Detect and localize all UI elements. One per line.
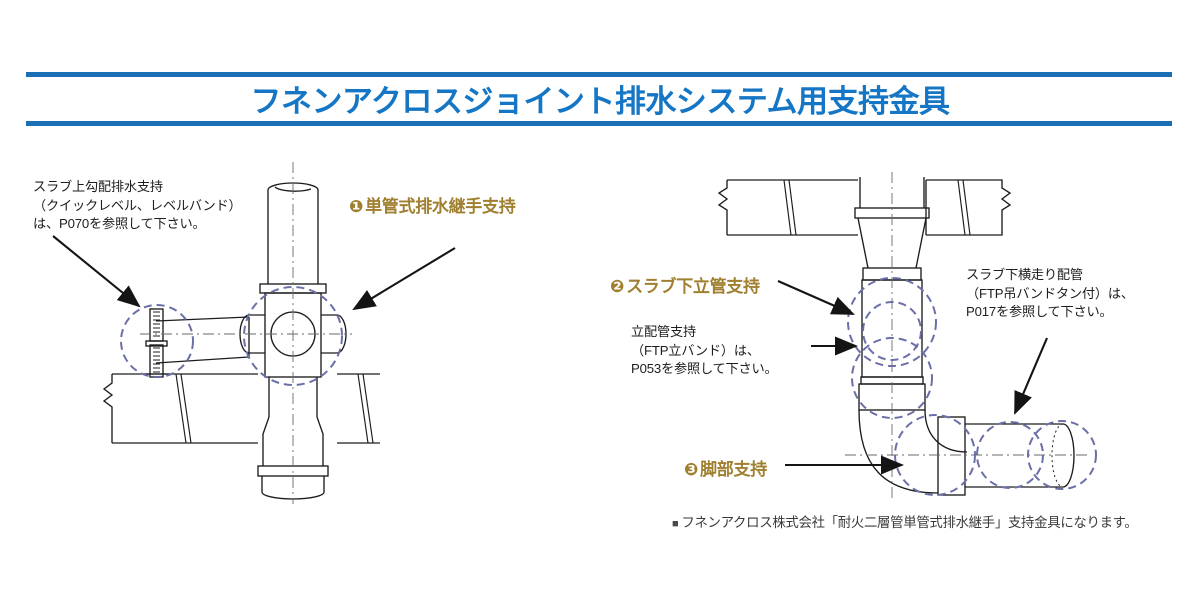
callout-3-base-support: ❸脚部支持 [684, 455, 767, 480]
callout-1-text: 単管式排水継手支持 [365, 197, 515, 216]
leader-callout-2 [778, 281, 853, 314]
annotation-slab-top-slope: スラブ上勾配排水支持 （クイックレベル、レベルバンド） は、P070を参照して下… [33, 178, 241, 234]
callout-2-text: スラブ下立管支持 [626, 277, 760, 296]
slab-left [104, 374, 258, 443]
leader-left-annotation [53, 236, 139, 306]
slab-left-right-fig [719, 180, 858, 235]
annotation-riser-support: 立配管支持 （FTP立バンド）は、 P053を参照して下さい。 [631, 323, 778, 379]
callout-3-number: ❸ [684, 460, 698, 479]
slab-right [337, 374, 380, 443]
leader-horizontal-annotation [1015, 338, 1047, 413]
horizontal-run-pipe [965, 424, 1074, 487]
threaded-rod-clamp [143, 309, 170, 377]
callout-3-text: 脚部支持 [700, 460, 767, 479]
callout-2-number: ❷ [610, 277, 624, 296]
callout-2-under-slab-riser-support: ❷スラブ下立管支持 [610, 272, 760, 297]
elbow-90 [859, 410, 967, 493]
leader-lines [53, 236, 1047, 465]
footnote-bullet-icon: ■ [672, 518, 678, 530]
footnote: ■フネンアクロス株式会社「耐火二層管単管式排水継手」支持金具になります。 [672, 511, 1138, 531]
center-lines-right [845, 172, 1090, 500]
sloped-branch-pipe [156, 317, 249, 363]
elbow-socket-collar [938, 417, 965, 495]
slab-right-right-fig [926, 180, 1010, 235]
callout-1-single-pipe-joint-support: ❶単管式排水継手支持 [349, 192, 515, 217]
leader-callout-1 [354, 248, 455, 309]
page-root: フネンアクロスジョイント排水システム用支持金具 [0, 0, 1200, 591]
callout-1-number: ❶ [349, 197, 363, 216]
footnote-text: フネンアクロス株式会社「耐火二層管単管式排水継手」支持金具になります。 [681, 515, 1137, 530]
annotation-horizontal-run-support: スラブ下横走り配管 （FTP吊バンドタン付）は、 P017を参照して下さい。 [966, 266, 1134, 322]
